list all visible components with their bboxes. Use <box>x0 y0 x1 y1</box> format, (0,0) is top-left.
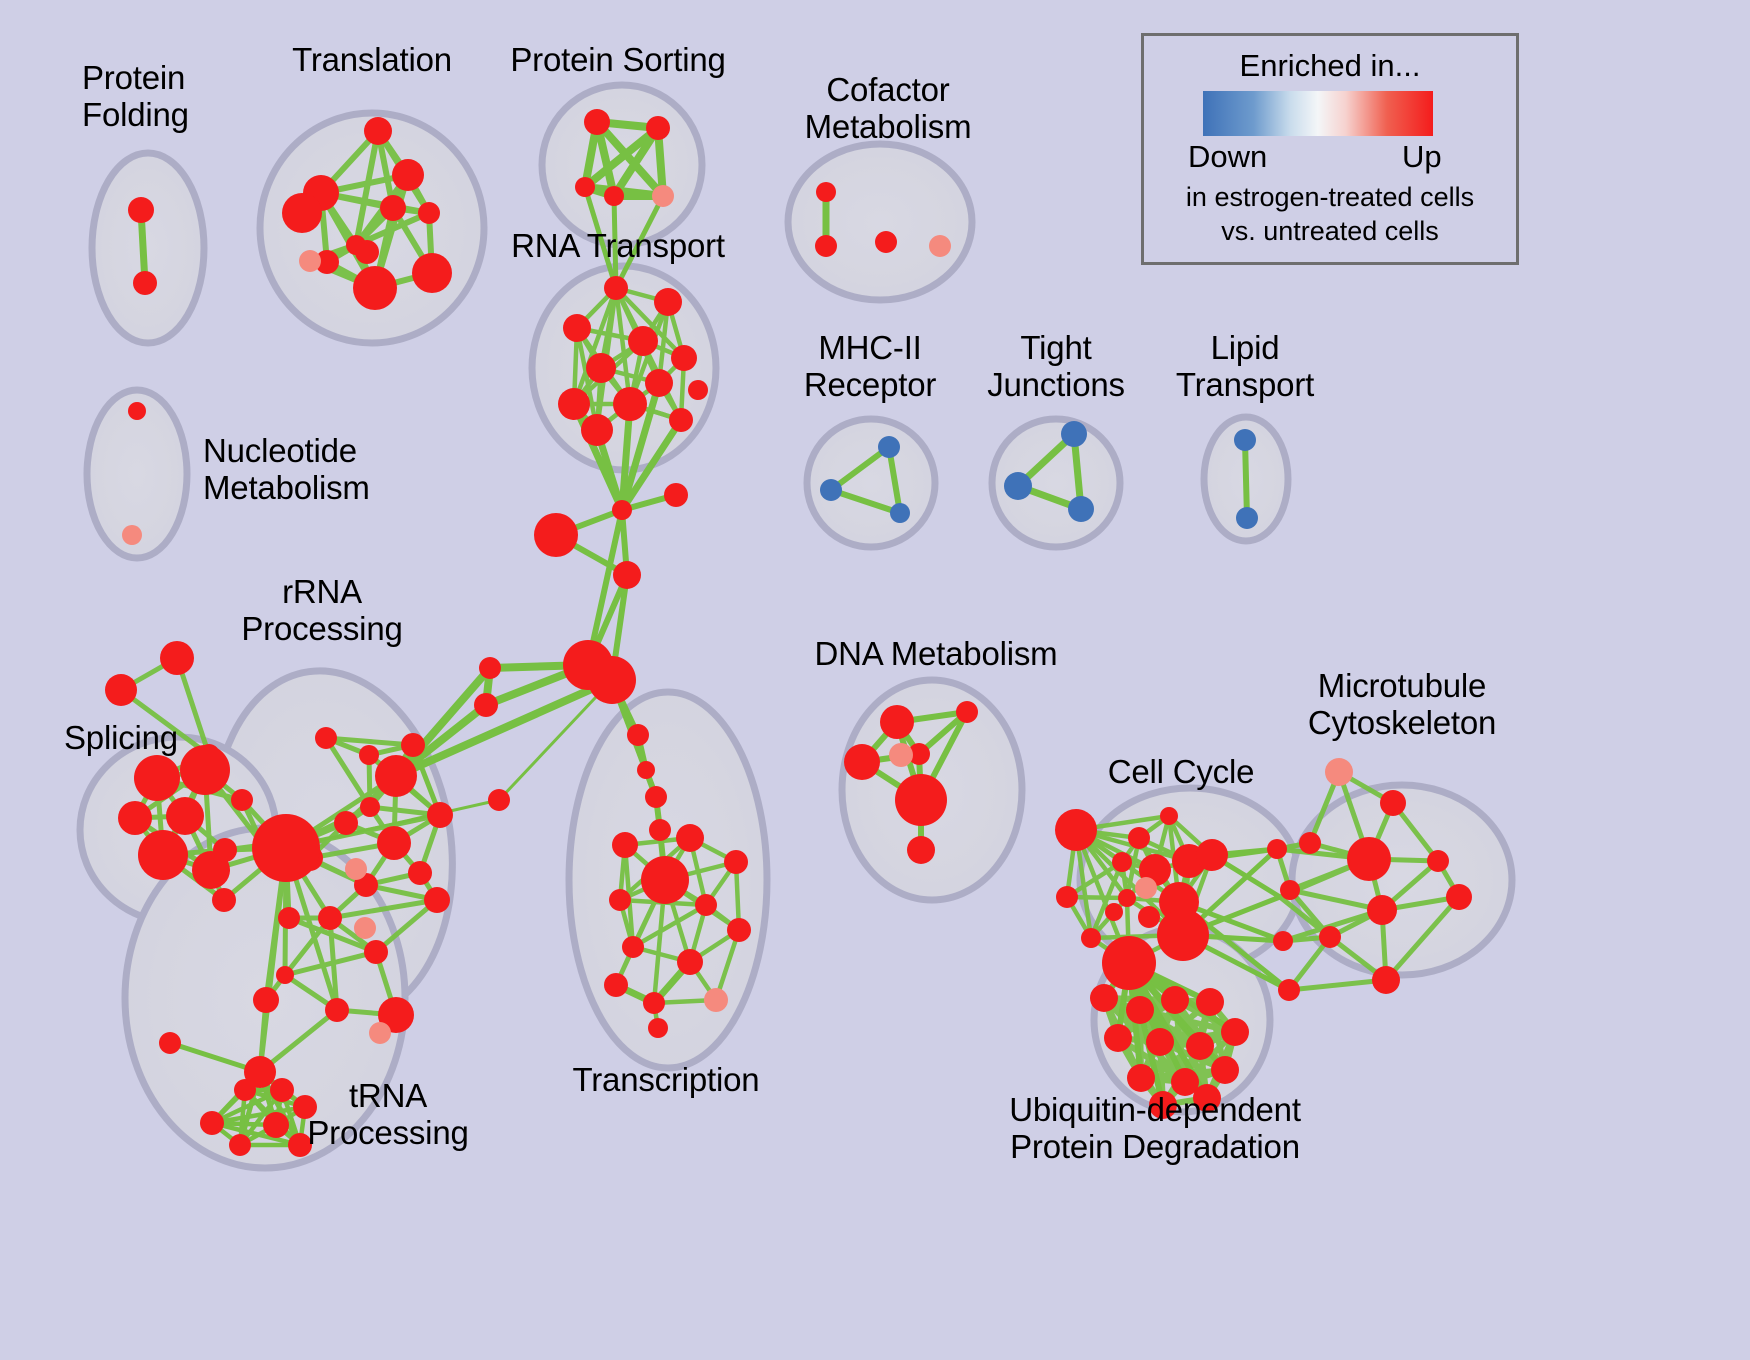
node <box>1127 1064 1155 1092</box>
node <box>1267 839 1287 859</box>
node <box>353 266 397 310</box>
node <box>844 744 880 780</box>
node <box>380 195 406 221</box>
node <box>1135 877 1157 899</box>
node <box>159 1032 181 1054</box>
node <box>1102 936 1156 990</box>
node <box>895 774 947 826</box>
node <box>1138 906 1160 928</box>
node <box>128 197 154 223</box>
node <box>318 906 342 930</box>
node <box>1446 884 1472 910</box>
node <box>627 724 649 746</box>
node <box>648 1018 668 1038</box>
node <box>664 483 688 507</box>
node <box>671 345 697 371</box>
cluster-label-tight-junctions: Tight Junctions <box>987 330 1125 404</box>
node <box>1055 809 1097 851</box>
legend-subtitle-2: vs. untreated cells <box>1144 216 1516 247</box>
node <box>1380 790 1406 816</box>
node <box>1004 472 1032 500</box>
legend-up-label: Up <box>1402 139 1442 175</box>
node <box>878 436 900 458</box>
node <box>628 326 658 356</box>
node <box>889 743 913 767</box>
node <box>270 1078 294 1102</box>
node <box>276 966 294 984</box>
node <box>1126 996 1154 1024</box>
node <box>1128 827 1150 849</box>
node <box>645 786 667 808</box>
node <box>1367 895 1397 925</box>
node <box>418 202 440 224</box>
node <box>612 832 638 858</box>
node <box>479 657 501 679</box>
cluster-label-lipid-transport: Lipid Transport <box>1176 330 1314 404</box>
enrichment-map-figure: Protein Folding Translation Protein Sort… <box>0 0 1750 1360</box>
node <box>1372 966 1400 994</box>
node <box>1161 986 1189 1014</box>
node <box>375 755 417 797</box>
node <box>369 1022 391 1044</box>
cluster-label-splicing: Splicing <box>64 720 178 757</box>
node <box>364 940 388 964</box>
node <box>956 701 978 723</box>
cluster-ellipse-protein-sorting <box>542 85 702 245</box>
cluster-label-dna-metabolism: DNA Metabolism <box>815 636 1058 673</box>
node <box>1090 984 1118 1012</box>
node <box>677 949 703 975</box>
color-legend: Enriched in... Down Up in estrogen-treat… <box>1141 33 1519 265</box>
node <box>160 641 194 675</box>
node <box>575 177 595 197</box>
node <box>1061 421 1087 447</box>
node <box>118 801 152 835</box>
node <box>622 936 644 958</box>
legend-color-ramp <box>1203 91 1433 136</box>
node <box>138 830 188 880</box>
node <box>278 907 300 929</box>
node <box>820 479 842 501</box>
node <box>643 992 665 1014</box>
node <box>263 1112 289 1138</box>
node <box>652 185 674 207</box>
node <box>584 109 610 135</box>
node <box>252 814 320 882</box>
node <box>1056 886 1078 908</box>
node <box>345 858 367 880</box>
node <box>612 500 632 520</box>
node <box>1234 429 1256 451</box>
legend-subtitle-1: in estrogen-treated cells <box>1144 182 1516 213</box>
node <box>354 917 376 939</box>
node <box>1146 1028 1174 1056</box>
cluster-label-rrna-processing: rRNA Processing <box>241 574 402 648</box>
node <box>234 1079 256 1101</box>
node <box>1325 758 1353 786</box>
cluster-label-cofactor-metabolism: Cofactor Metabolism <box>805 72 972 146</box>
node <box>1104 1024 1132 1052</box>
node <box>355 240 379 264</box>
node <box>816 182 836 202</box>
node <box>364 117 392 145</box>
node <box>1236 507 1258 529</box>
node <box>704 988 728 1012</box>
node <box>412 253 452 293</box>
node <box>1347 837 1391 881</box>
node <box>1196 988 1224 1016</box>
node <box>1299 832 1321 854</box>
cluster-label-nucleotide-metabolism: Nucleotide Metabolism <box>203 433 370 507</box>
node <box>534 513 578 557</box>
node <box>359 745 379 765</box>
node <box>392 159 424 191</box>
node <box>1160 807 1178 825</box>
node <box>180 745 230 795</box>
node <box>604 973 628 997</box>
node <box>474 693 498 717</box>
cluster-label-mhc-ii-receptor: MHC-II Receptor <box>804 330 936 404</box>
cluster-label-trna-processing: tRNA Processing <box>307 1078 468 1152</box>
node <box>1068 496 1094 522</box>
node <box>253 987 279 1013</box>
node <box>604 186 624 206</box>
node <box>1211 1056 1239 1084</box>
node <box>588 656 636 704</box>
node <box>334 811 358 835</box>
node <box>105 674 137 706</box>
node <box>299 250 321 272</box>
node <box>166 797 204 835</box>
cluster-label-microtubule-cytoskeleton: Microtubule Cytoskeleton <box>1308 668 1496 742</box>
node <box>1081 928 1101 948</box>
node <box>1112 852 1132 872</box>
node <box>641 856 689 904</box>
node <box>282 193 322 233</box>
node <box>212 888 236 912</box>
node <box>488 789 510 811</box>
node <box>654 288 682 316</box>
node <box>907 836 935 864</box>
node <box>128 402 146 420</box>
node <box>637 761 655 779</box>
node <box>1196 839 1228 871</box>
node <box>1427 850 1449 872</box>
node <box>325 998 349 1022</box>
node <box>229 1134 251 1156</box>
node <box>875 231 897 253</box>
node <box>213 838 237 862</box>
node <box>688 380 708 400</box>
node <box>200 1111 224 1135</box>
node <box>377 826 411 860</box>
node <box>133 271 157 295</box>
legend-down-label: Down <box>1188 139 1267 175</box>
node <box>1273 931 1293 951</box>
node <box>676 824 704 852</box>
cluster-label-translation: Translation <box>292 42 452 79</box>
node <box>646 116 670 140</box>
node <box>880 705 914 739</box>
node <box>649 819 671 841</box>
node <box>609 889 631 911</box>
node <box>563 314 591 342</box>
node <box>724 850 748 874</box>
cluster-label-rna-transport: RNA Transport <box>511 228 725 265</box>
node <box>890 503 910 523</box>
cluster-label-protein-folding: Protein Folding <box>82 60 189 134</box>
node <box>815 235 837 257</box>
node <box>408 861 432 885</box>
node <box>1280 880 1300 900</box>
node <box>315 727 337 749</box>
node <box>586 353 616 383</box>
cluster-label-transcription: Transcription <box>573 1062 760 1099</box>
node <box>727 918 751 942</box>
cluster-label-cell-cycle: Cell Cycle <box>1108 754 1255 791</box>
node <box>424 887 450 913</box>
node <box>604 276 628 300</box>
node <box>613 387 647 421</box>
legend-title: Enriched in... <box>1144 48 1516 84</box>
node <box>122 525 142 545</box>
node <box>645 369 673 397</box>
node <box>929 235 951 257</box>
cluster-ellipse-cofactor <box>788 144 972 300</box>
node <box>558 388 590 420</box>
cluster-ellipse-protein-folding <box>92 153 204 343</box>
node <box>1105 903 1123 921</box>
node <box>1118 889 1136 907</box>
node <box>1319 926 1341 948</box>
node <box>360 797 380 817</box>
cluster-label-ubiquitin-degradation: Ubiquitin-dependent Protein Degradation <box>1009 1092 1301 1166</box>
node <box>401 733 425 757</box>
node <box>669 408 693 432</box>
node <box>1157 909 1209 961</box>
node <box>1186 1032 1214 1060</box>
node <box>613 561 641 589</box>
node <box>427 802 453 828</box>
node <box>581 414 613 446</box>
node <box>1278 979 1300 1001</box>
node <box>231 789 253 811</box>
node <box>134 755 180 801</box>
node <box>1221 1018 1249 1046</box>
cluster-label-protein-sorting: Protein Sorting <box>510 42 725 79</box>
node <box>695 894 717 916</box>
